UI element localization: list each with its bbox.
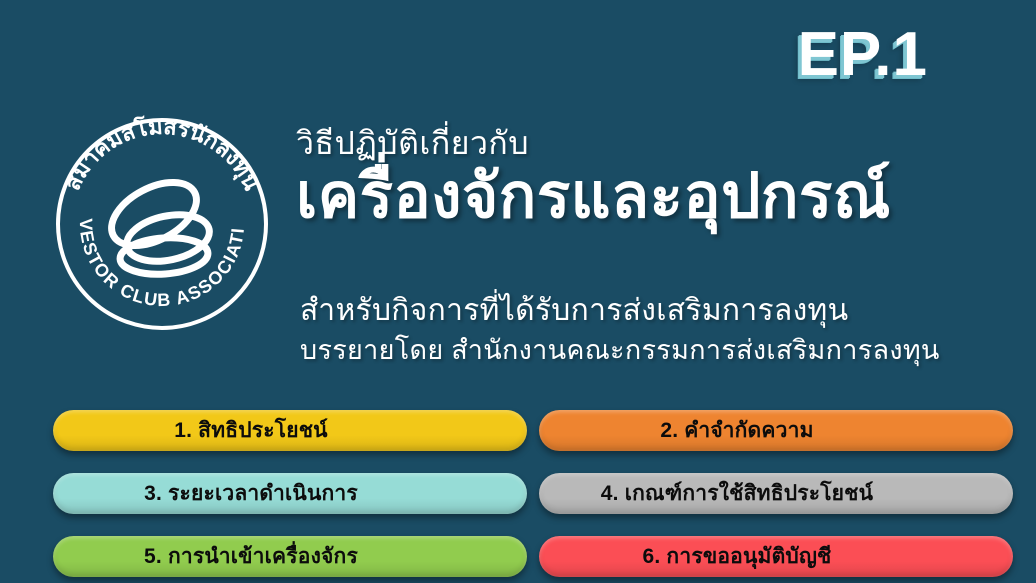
topic-button-label: 3. ระยะเวลาดำเนินการ: [144, 483, 358, 504]
topic-button-label: 5. การนำเข้าเครื่องจักร: [144, 546, 358, 567]
headline-title: เครื่องจักรและอุปกรณ์: [296, 160, 996, 233]
presentation-slide: EP.1 สมาคมสโมสรนักลงทุน INVESTOR CLUB AS…: [0, 0, 1036, 583]
topic-button-label: 4. เกณฑ์การใช้สิทธิประโยชน์: [601, 483, 873, 504]
topic-button-5[interactable]: 5. การนำเข้าเครื่องจักร: [53, 536, 527, 577]
topic-button-grid: 1. สิทธิประโยชน์2. คำจำกัดความ3. ระยะเวล…: [0, 408, 1036, 583]
subtitle-block: สำหรับกิจการที่ได้รับการส่งเสริมการลงทุน…: [300, 292, 1000, 367]
episode-badge: EP.1: [798, 24, 928, 86]
topic-button-6[interactable]: 6. การขออนุมัติบัญชี: [539, 536, 1013, 577]
topic-button-2[interactable]: 2. คำจำกัดความ: [539, 410, 1013, 451]
topic-button-label: 6. การขออนุมัติบัญชี: [642, 546, 831, 567]
topic-button-1[interactable]: 1. สิทธิประโยชน์: [53, 410, 527, 451]
topic-button-label: 1. สิทธิประโยชน์: [174, 420, 328, 441]
logo-swirl-mark: [101, 169, 213, 277]
topic-button-4[interactable]: 4. เกณฑ์การใช้สิทธิประโยชน์: [539, 473, 1013, 514]
association-logo: สมาคมสโมสรนักลงทุน INVESTOR CLUB ASSOCIA…: [48, 110, 276, 338]
subtitle-presenter: บรรยายโดย สำนักงานคณะกรรมการส่งเสริมการล…: [300, 334, 1000, 368]
topic-button-3[interactable]: 3. ระยะเวลาดำเนินการ: [53, 473, 527, 514]
headline-kicker: วิธีปฏิบัติเกี่ยวกับ: [296, 126, 996, 162]
subtitle-primary: สำหรับกิจการที่ได้รับการส่งเสริมการลงทุน: [300, 292, 1000, 330]
headline-block: วิธีปฏิบัติเกี่ยวกับ เครื่องจักรและอุปกร…: [296, 126, 996, 233]
topic-button-label: 2. คำจำกัดความ: [660, 420, 813, 441]
